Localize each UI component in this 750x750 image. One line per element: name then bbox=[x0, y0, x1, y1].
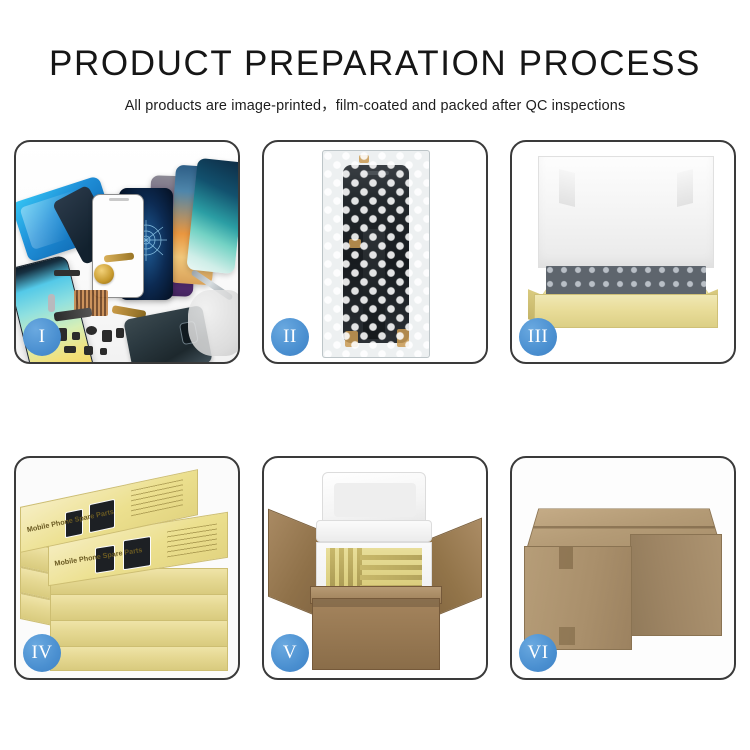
sim-tray bbox=[48, 294, 55, 312]
hand bbox=[188, 290, 238, 356]
box-slab-r2 bbox=[50, 594, 228, 621]
carton-body bbox=[312, 598, 440, 670]
lid-tab-right bbox=[677, 169, 693, 207]
small-part-3 bbox=[86, 326, 97, 335]
page-subtitle: All products are image-printed，film-coat… bbox=[0, 94, 750, 115]
product-preparation-infographic: PRODUCT PREPARATION PROCESS All products… bbox=[0, 0, 750, 750]
step-badge-6: VI bbox=[519, 634, 557, 672]
header: PRODUCT PREPARATION PROCESS All products… bbox=[0, 0, 750, 115]
packed-box-row-2 bbox=[360, 565, 422, 570]
step-card-3: III bbox=[510, 140, 736, 364]
small-part-5 bbox=[116, 328, 124, 338]
small-part-6 bbox=[64, 346, 76, 353]
step-badge-1: I bbox=[23, 318, 61, 356]
small-part-7 bbox=[84, 346, 93, 355]
box-slab-r4 bbox=[50, 646, 228, 671]
box-slab-r3 bbox=[50, 620, 228, 647]
lid-text-lines-2 bbox=[167, 523, 217, 557]
step-card-2: II bbox=[262, 140, 488, 364]
foam-box-lid-edge bbox=[316, 520, 432, 542]
step-badge-4: IV bbox=[23, 634, 61, 672]
packed-box-row-1 bbox=[360, 555, 422, 560]
bubble-texture bbox=[323, 151, 429, 357]
small-part-2 bbox=[72, 332, 80, 340]
packed-box-row-3 bbox=[360, 575, 422, 580]
carton-side-face bbox=[630, 534, 722, 636]
small-part-8 bbox=[100, 348, 107, 355]
flex-cable-4 bbox=[54, 270, 80, 276]
carton-tape-seam bbox=[533, 526, 715, 528]
step-badge-2: II bbox=[271, 318, 309, 356]
small-part-4 bbox=[102, 330, 112, 342]
page-title: PRODUCT PREPARATION PROCESS bbox=[0, 44, 750, 84]
box-front-yellow bbox=[534, 294, 718, 328]
lid-text-lines-1 bbox=[131, 479, 183, 516]
step-badge-5: V bbox=[271, 634, 309, 672]
step-card-5: V bbox=[262, 456, 488, 680]
gold-coil-component bbox=[94, 264, 114, 284]
box-lid-white bbox=[538, 156, 714, 268]
step-card-1: I bbox=[14, 140, 240, 364]
process-step-grid: I II bbox=[14, 140, 736, 680]
step-card-4: Mobile Phone Spare Parts Mobile Phone Sp… bbox=[14, 456, 240, 680]
step-card-6: VI bbox=[510, 456, 736, 680]
step-badge-3: III bbox=[519, 318, 557, 356]
lid-tab-left bbox=[559, 169, 575, 207]
bubble-wrap-bag bbox=[322, 150, 430, 358]
